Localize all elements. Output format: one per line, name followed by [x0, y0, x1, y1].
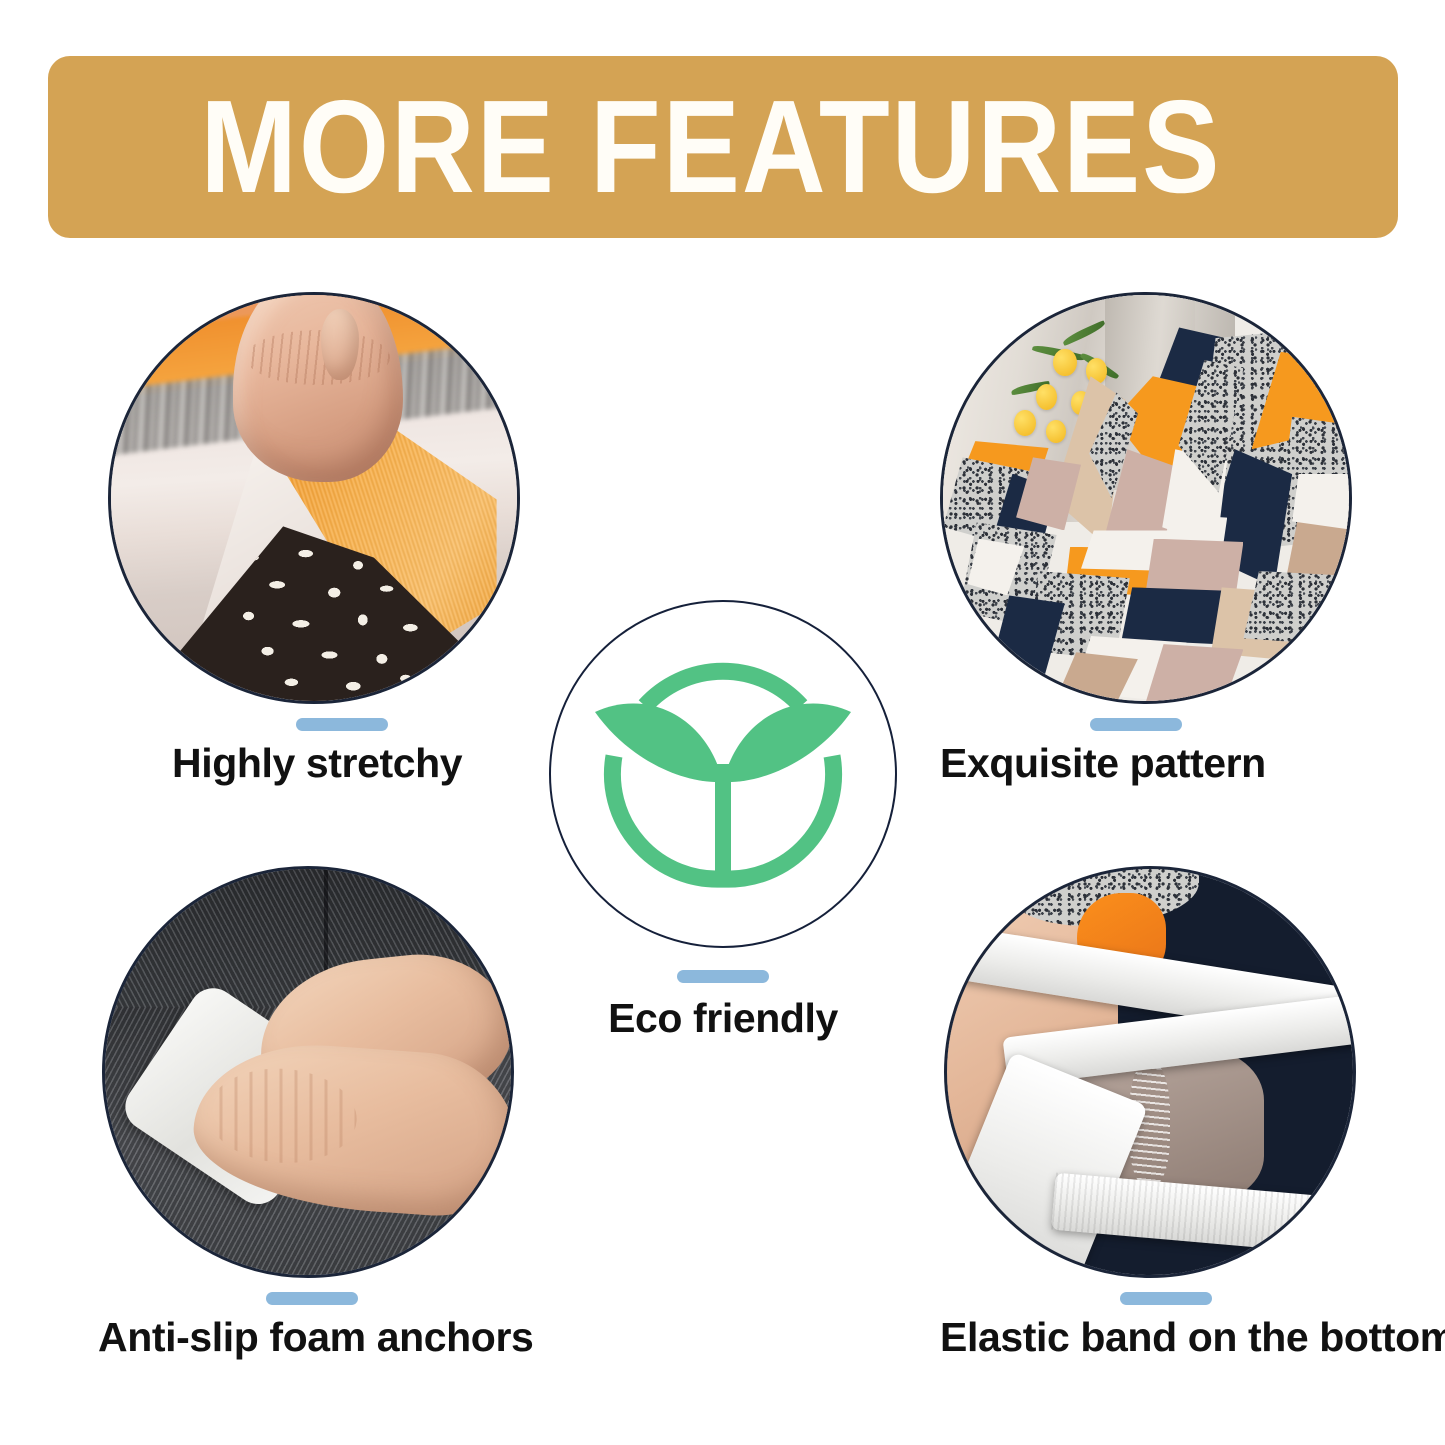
- feature-label-highly-stretchy: Highly stretchy: [30, 741, 500, 786]
- eco-friendly-badge: Eco friendly: [543, 600, 903, 1042]
- foam-anchor-photo: [105, 869, 511, 1275]
- feature-image-highly-stretchy: [108, 292, 520, 704]
- feature-card-exquisite-pattern: Exquisite pattern: [940, 292, 1410, 786]
- label-divider-dash: [1090, 718, 1182, 731]
- feature-image-anti-slip-foam-anchors: [102, 866, 514, 1278]
- sofa-cover: [943, 295, 1349, 701]
- page-title: MORE FEATURES: [200, 81, 1221, 213]
- hand: [233, 292, 404, 482]
- feature-card-highly-stretchy: Highly stretchy: [30, 292, 500, 786]
- feature-label-exquisite-pattern: Exquisite pattern: [940, 741, 1410, 786]
- header-banner: MORE FEATURES: [48, 56, 1398, 238]
- label-divider-dash: [677, 970, 769, 983]
- thumb: [321, 309, 359, 381]
- feature-label-elastic-band-on-the-bottom: Elastic band on the bottom: [940, 1315, 1410, 1360]
- sofa-photo: [943, 295, 1349, 701]
- feature-card-elastic-band-on-the-bottom: Elastic band on the bottom: [940, 866, 1410, 1360]
- elastic-band-photo: [947, 869, 1353, 1275]
- eco-leaf-sprout-icon: [573, 624, 873, 924]
- label-divider-dash: [266, 1292, 358, 1305]
- label-divider-dash: [1120, 1292, 1212, 1305]
- feature-image-exquisite-pattern: [940, 292, 1352, 704]
- label-divider-dash: [296, 718, 388, 731]
- feature-card-anti-slip-foam-anchors: Anti-slip foam anchors: [30, 866, 500, 1360]
- feature-image-elastic-band-on-the-bottom: [944, 866, 1356, 1278]
- stretch-photo: [111, 295, 517, 701]
- eco-badge-circle: [549, 600, 897, 948]
- eco-friendly-label: Eco friendly: [543, 995, 903, 1042]
- feature-label-anti-slip-foam-anchors: Anti-slip foam anchors: [30, 1315, 500, 1360]
